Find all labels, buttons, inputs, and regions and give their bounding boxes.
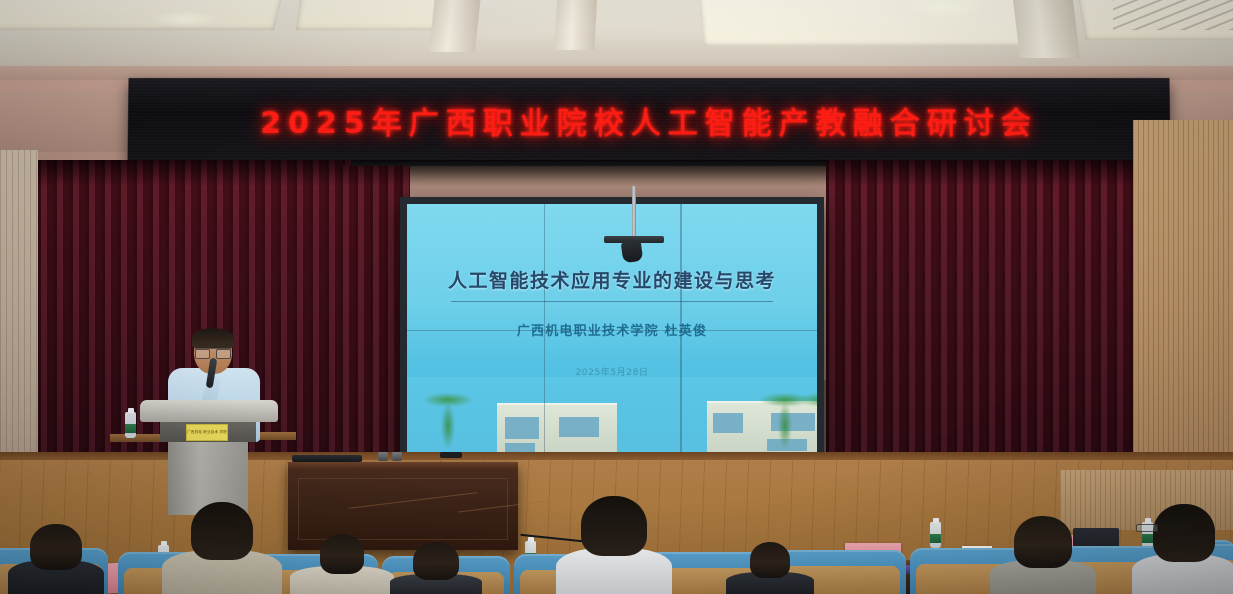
stage-table-knob bbox=[392, 452, 402, 461]
camera-mount-pole bbox=[632, 186, 636, 240]
water-bottle bbox=[125, 408, 136, 438]
person-head bbox=[1014, 516, 1072, 568]
wall-left-of-banner bbox=[0, 92, 130, 152]
person-head bbox=[750, 542, 790, 578]
audience-member bbox=[990, 520, 1096, 594]
person-head bbox=[413, 542, 459, 580]
person-head bbox=[191, 502, 253, 560]
campus-building bbox=[497, 403, 617, 455]
person-head bbox=[30, 524, 82, 570]
water-bottle bbox=[930, 518, 941, 548]
podium-base bbox=[168, 435, 248, 515]
audience-member bbox=[726, 546, 814, 594]
stage-table-knob bbox=[378, 452, 388, 461]
podium-sign: 广西机电 职业技术 学院 bbox=[186, 424, 228, 441]
podium-sign-text: 广西机电 职业技术 学院 bbox=[187, 430, 227, 435]
bottle-label bbox=[930, 534, 941, 543]
ceiling-coffer bbox=[0, 0, 286, 30]
ceiling-vent bbox=[1113, 0, 1233, 30]
person-head bbox=[1153, 504, 1215, 562]
slide-date: 2025年5月28日 bbox=[407, 365, 817, 378]
panel-seam bbox=[407, 330, 817, 332]
table-trim bbox=[348, 492, 477, 509]
conference-hall-photo: 2025年广西职业院校人工智能产教融合研讨会 bbox=[0, 0, 1233, 594]
audience-member bbox=[390, 550, 482, 594]
palm-tree bbox=[413, 385, 483, 455]
slide-title-underline bbox=[451, 301, 773, 302]
bottle-label bbox=[125, 424, 136, 433]
led-banner-text: 2025年广西职业院校人工智能产教融合研讨会 bbox=[260, 98, 1038, 142]
audience-member bbox=[162, 504, 282, 594]
slide-campus-photo bbox=[407, 377, 817, 455]
ceiling-beam bbox=[554, 0, 597, 50]
glasses-icon bbox=[195, 347, 231, 355]
building-window bbox=[559, 417, 599, 437]
audience-member bbox=[556, 494, 672, 594]
stage-table-microphone bbox=[440, 452, 462, 458]
curtain-top-shadow bbox=[22, 160, 1141, 186]
person-head bbox=[581, 496, 647, 556]
person-head bbox=[320, 534, 364, 574]
ceiling-beam bbox=[429, 0, 481, 52]
speaker-hair bbox=[192, 328, 234, 348]
audience-member bbox=[1132, 498, 1233, 594]
slide-title: 人工智能技术应用专业的建设与思考 bbox=[407, 266, 817, 293]
building-window bbox=[505, 417, 539, 439]
stage-table-equipment bbox=[292, 455, 362, 462]
stage-conference-table bbox=[288, 462, 518, 550]
ceiling-beam bbox=[1012, 0, 1080, 58]
audience-member bbox=[290, 538, 394, 594]
glasses-icon bbox=[1136, 524, 1158, 532]
led-banner: 2025年广西职业院校人工智能产教融合研讨会 bbox=[127, 78, 1170, 166]
podium-top bbox=[140, 400, 278, 422]
building-window bbox=[713, 413, 743, 433]
palm-tree bbox=[795, 385, 817, 455]
audience-member bbox=[8, 532, 104, 594]
ceiling-light bbox=[150, 10, 220, 28]
